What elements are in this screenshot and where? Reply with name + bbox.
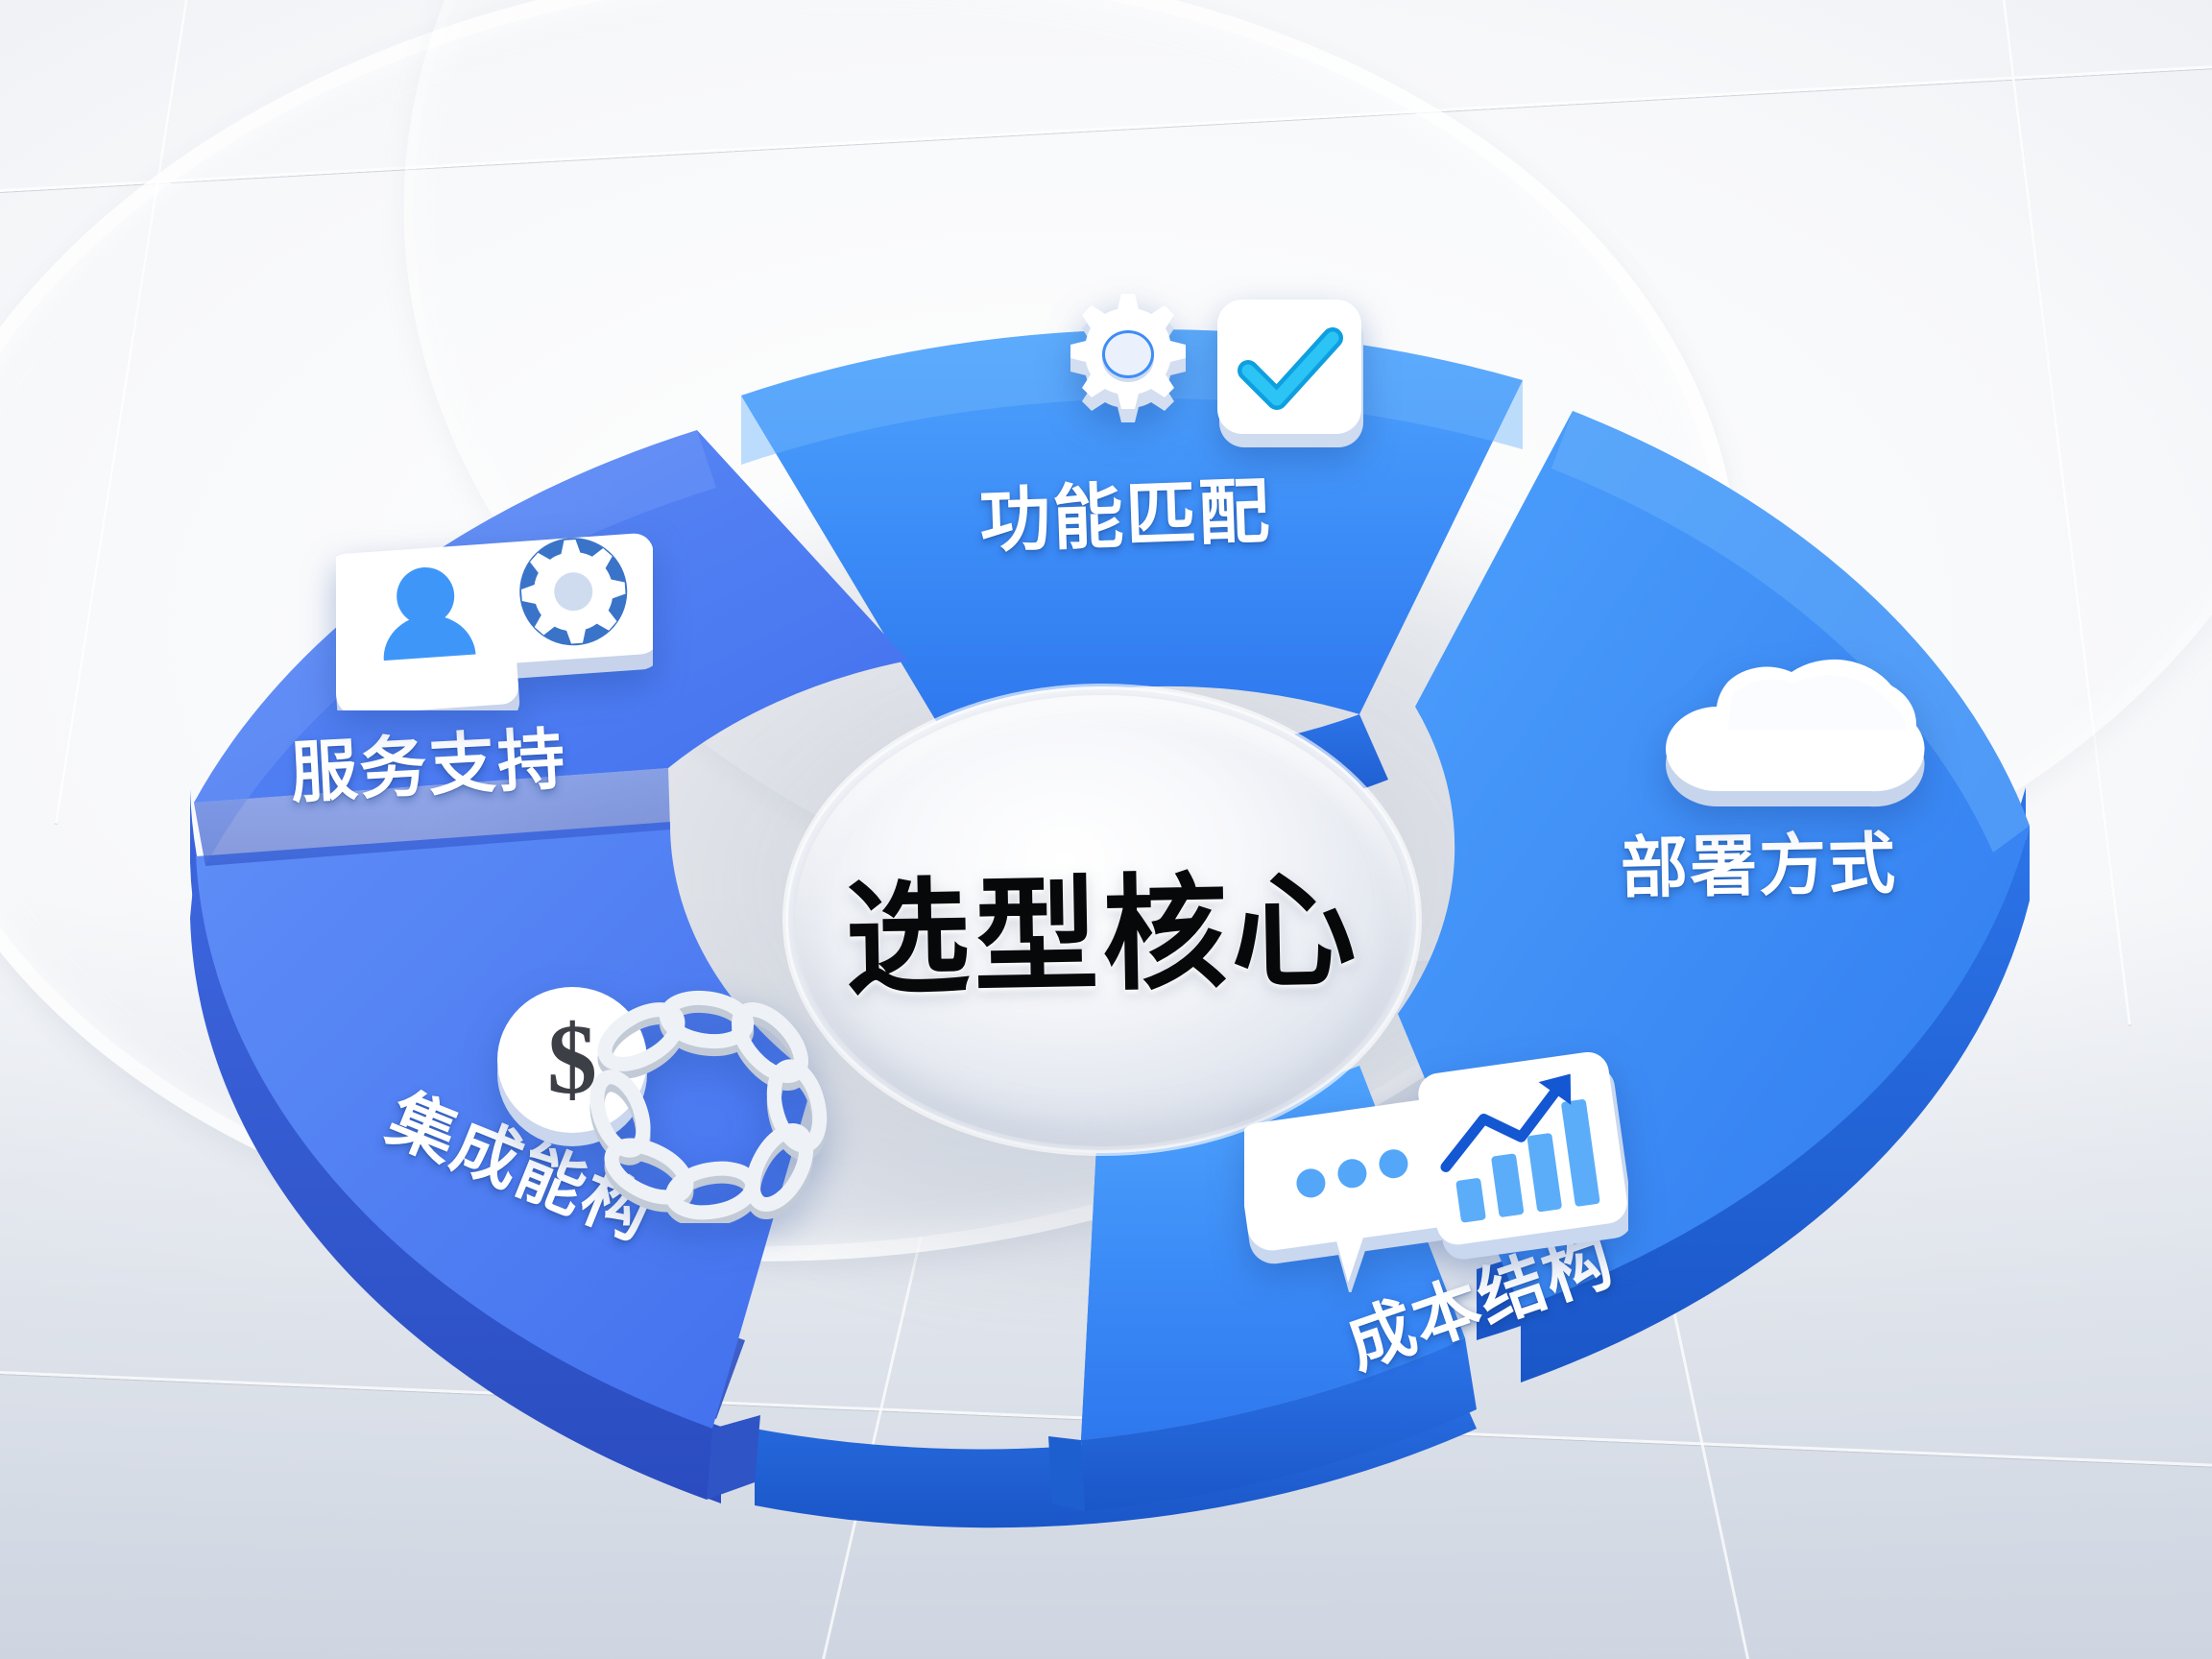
svg-text:$: $ xyxy=(547,1004,597,1115)
user-settings-icon xyxy=(336,499,653,710)
check-card-icon xyxy=(1217,300,1363,447)
infographic-canvas: 选型核心 功能匹配 部署方式 成本结构 集成能构 服务支持 xyxy=(0,0,2212,1659)
page-title: 选型核心 xyxy=(843,829,1360,1019)
gear-check-icon xyxy=(1046,278,1382,461)
segment-label-service-support[interactable]: 服务支持 xyxy=(288,706,569,817)
chat-chart-icon xyxy=(1244,1052,1628,1292)
bar-chart-icon xyxy=(1415,1052,1628,1262)
cloud-icon xyxy=(1644,603,1951,814)
gear-icon xyxy=(1070,294,1186,422)
segment-label-function-match[interactable]: 功能匹配 xyxy=(977,454,1273,567)
coin-chain-icon: $ xyxy=(480,964,883,1223)
segment-label-deployment-mode[interactable]: 部署方式 xyxy=(1620,809,1898,911)
